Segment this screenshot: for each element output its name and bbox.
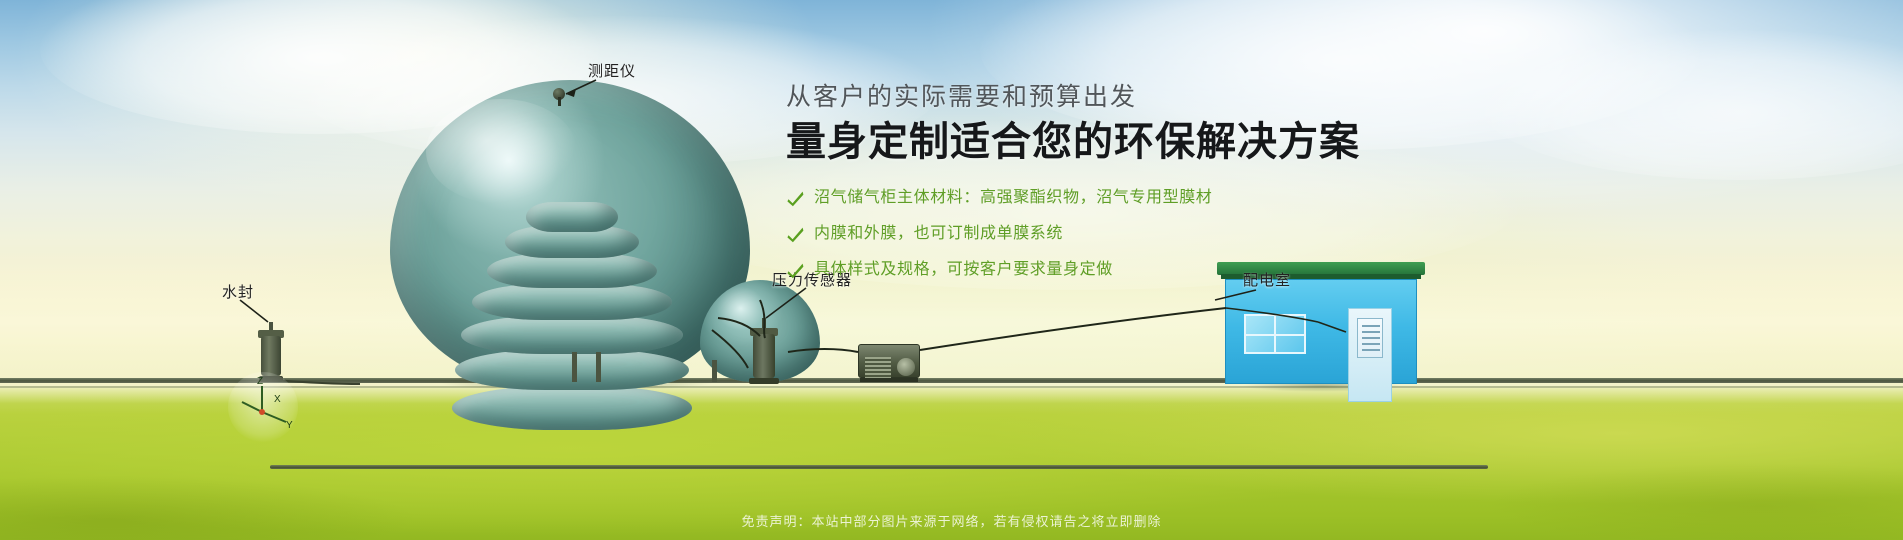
house-window: [1244, 314, 1306, 354]
list-item: 具体样式及规格，可按客户要求量身定做: [786, 260, 1406, 281]
list-item: 内膜和外膜，也可订制成单膜系统: [786, 224, 1406, 245]
blower-grill: [865, 357, 891, 379]
rangefinder-stem: [558, 97, 561, 106]
bullet-text: 内膜和外膜，也可订制成单膜系统: [814, 224, 1063, 245]
membrane-step: [526, 202, 618, 232]
label-water-seal: 水封: [222, 281, 254, 302]
marketing-copy-block: 从客户的实际需要和预算出发 量身定制适合您的环保解决方案 沼气储气柜主体材料：高…: [786, 82, 1406, 296]
vent-post: [572, 352, 577, 382]
buried-pipe-run: [270, 465, 1488, 469]
feature-bullet-list: 沼气储气柜主体材料：高强聚酯织物，沼气专用型膜材 内膜和外膜，也可订制成单膜系统…: [786, 188, 1406, 280]
axis-orientation-widget: Z Y X: [228, 372, 298, 442]
banner-stage: Z Y X 测距仪 水封 压力传感器 配电室 从客户的实际需要和预算出发 量身定…: [0, 0, 1903, 540]
membrane-step: [461, 316, 683, 354]
water-seal-body: [261, 336, 281, 376]
pressure-sensor-unit: [745, 318, 785, 384]
vent-post: [712, 360, 717, 382]
label-rangefinder: 测距仪: [588, 60, 636, 81]
membrane-step: [472, 284, 672, 320]
banner-subtitle: 从客户的实际需要和预算出发: [786, 82, 1406, 112]
disclaimer-text: 免责声明：本站中部分图片来源于网络，若有侵权请告之将立即删除: [0, 511, 1903, 530]
membrane-step: [487, 254, 657, 288]
check-tick-icon: [786, 261, 805, 280]
bullet-text: 沼气储气柜主体材料：高强聚酯织物，沼气专用型膜材: [814, 188, 1212, 209]
biogas-dome: [390, 80, 750, 390]
bullet-text: 具体样式及规格，可按客户要求量身定做: [814, 260, 1113, 281]
axis-label-z: Z: [257, 376, 263, 387]
banner-title: 量身定制适合您的环保解决方案: [786, 119, 1406, 166]
vent-post: [596, 352, 601, 382]
dome-inner-membrane: [458, 202, 686, 434]
axis-label-y: Y: [286, 420, 293, 431]
blower-base: [860, 378, 918, 382]
pressure-sensor-body: [753, 334, 775, 378]
check-tick-icon: [786, 225, 805, 244]
axis-label-x: X: [274, 394, 281, 405]
control-panel-icon: [1357, 318, 1383, 358]
blower-fan-icon: [897, 358, 915, 376]
check-tick-icon: [786, 189, 805, 208]
membrane-step: [452, 386, 692, 430]
list-item: 沼气储气柜主体材料：高强聚酯织物，沼气专用型膜材: [786, 188, 1406, 209]
blower-body: [858, 344, 920, 378]
pressure-sensor-base: [749, 378, 779, 384]
blower-control-unit: [858, 338, 920, 382]
